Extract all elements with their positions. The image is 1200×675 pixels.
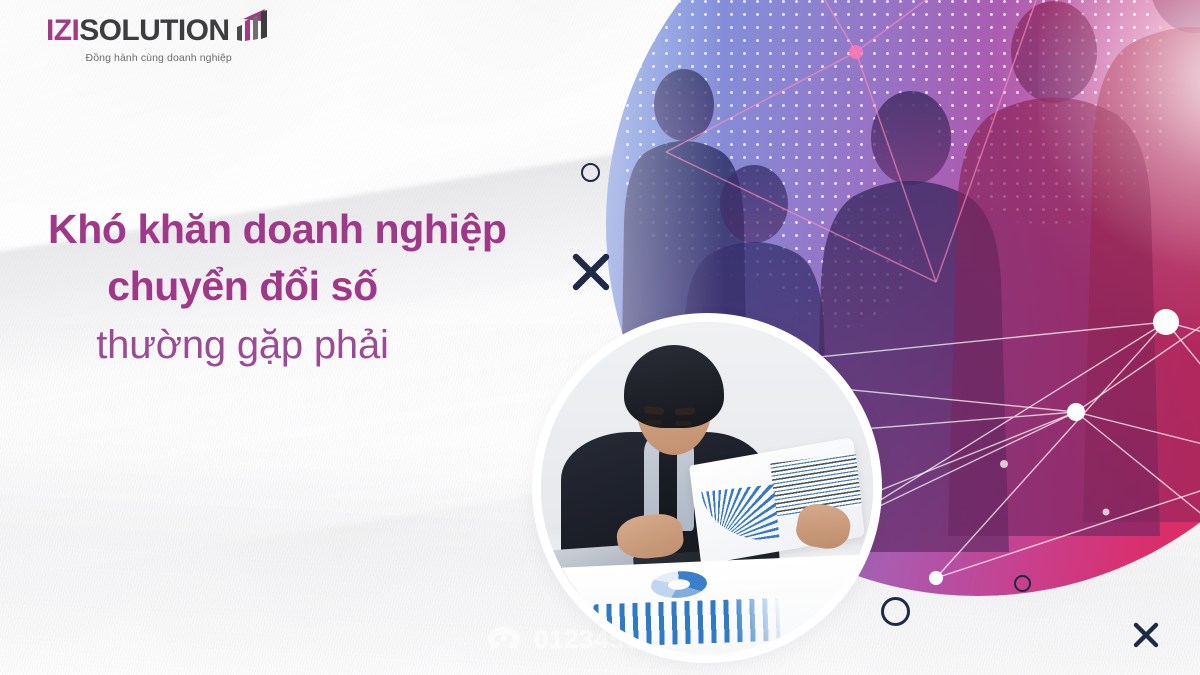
- headline-line-3: thường gặp phải: [0, 322, 560, 368]
- logo-wordmark-row: IZI SOLUTION: [46, 16, 271, 46]
- headline-line-2: chuyển đổi số: [0, 263, 560, 310]
- brand-logo[interactable]: IZI SOLUTION Đồng hành cùng doanh nghiệp: [46, 16, 271, 64]
- promo-banner: IZI SOLUTION Đồng hành cùng doanh nghiệp…: [0, 0, 1200, 675]
- logo-tagline: Đồng hành cùng doanh nghiệp: [86, 52, 232, 64]
- portrait-eye-left: [646, 420, 663, 425]
- ring-large-bottom: [881, 597, 910, 626]
- x-mark-bottom-right: [1131, 620, 1161, 650]
- portrait-eye-right: [675, 421, 692, 426]
- bar-chart-arrow-icon: [231, 7, 271, 43]
- headline-line-1: Khó khăn doanh nghiệp: [0, 206, 560, 253]
- ring-tiny-bottom: [1014, 575, 1031, 592]
- portrait-bar-chart: [593, 598, 780, 648]
- logo-text-solution: SOLUTION: [79, 16, 229, 46]
- page-title: Khó khăn doanh nghiệp chuyển đổi số thườ…: [0, 206, 560, 368]
- x-mark-middle: [569, 250, 613, 294]
- portrait-eyebrow-left: [644, 406, 665, 415]
- telephone-icon: [487, 626, 521, 653]
- logo-text-izi: IZI: [46, 16, 79, 46]
- portrait-image-circle: [541, 322, 873, 654]
- portrait-eyebrow-right: [675, 407, 695, 416]
- ring-small-top: [581, 163, 600, 182]
